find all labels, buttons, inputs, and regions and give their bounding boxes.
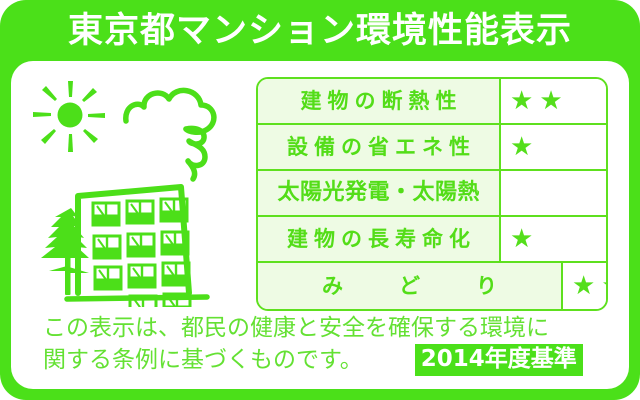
building-icon (67, 187, 207, 307)
page-title: 東京都マンション環境性能表示 (68, 14, 572, 49)
star-icon: ★ (572, 273, 595, 299)
footer-line-2-row: 関する条例に基づくものです。 2014年度基準 (43, 344, 603, 376)
table-row: 設備の省エネ性 ★ (258, 125, 606, 171)
star-icon: ★ (601, 273, 608, 299)
row-stars-longevity: ★ (501, 217, 606, 261)
star-icon: ★ (510, 134, 533, 160)
table-row: 太陽光発電・太陽熱 (258, 171, 606, 217)
illustration-building-with-sun-cloud-tree (29, 75, 251, 307)
table-row: 建物の長寿命化 ★ (258, 217, 606, 263)
row-label-greenery: みどり (258, 263, 563, 309)
inner-panel: 建物の断熱性 ★ ★ 設備の省エネ性 ★ 太陽光発電・太陽熱 建物の長寿命化 (11, 61, 629, 389)
footer-line-1: この表示は、都民の健康と安全を確保する環境に (43, 313, 603, 344)
cloud-icon (126, 90, 214, 179)
row-label-longevity: 建物の長寿命化 (258, 217, 501, 261)
row-stars-solar (501, 171, 606, 215)
row-label-solar: 太陽光発電・太陽熱 (258, 171, 501, 215)
star-icon: ★ (510, 226, 533, 252)
sun-icon (33, 81, 105, 152)
standard-year-badge: 2014年度基準 (415, 344, 583, 376)
footer-line-2: 関する条例に基づくものです。 (43, 345, 363, 376)
header-band: 東京都マンション環境性能表示 (0, 0, 640, 62)
row-label-insulation: 建物の断熱性 (258, 79, 501, 123)
row-stars-energy-saving: ★ (501, 125, 606, 169)
window-group (93, 199, 190, 307)
star-icon: ★ (539, 88, 562, 114)
star-icon: ★ (510, 88, 533, 114)
row-stars-greenery: ★ ★ (563, 263, 608, 309)
table-row: 建物の断熱性 ★ ★ (258, 79, 606, 125)
rating-table: 建物の断熱性 ★ ★ 設備の省エネ性 ★ 太陽光発電・太陽熱 建物の長寿命化 (256, 77, 608, 311)
row-stars-insulation: ★ ★ (501, 79, 606, 123)
environmental-performance-label: 東京都マンション環境性能表示 (0, 0, 640, 400)
table-row: みどり ★ ★ (258, 263, 606, 309)
row-label-energy-saving: 設備の省エネ性 (258, 125, 501, 169)
tree-icon (41, 208, 89, 295)
footer-note: この表示は、都民の健康と安全を確保する環境に 関する条例に基づくものです。 20… (43, 313, 603, 376)
